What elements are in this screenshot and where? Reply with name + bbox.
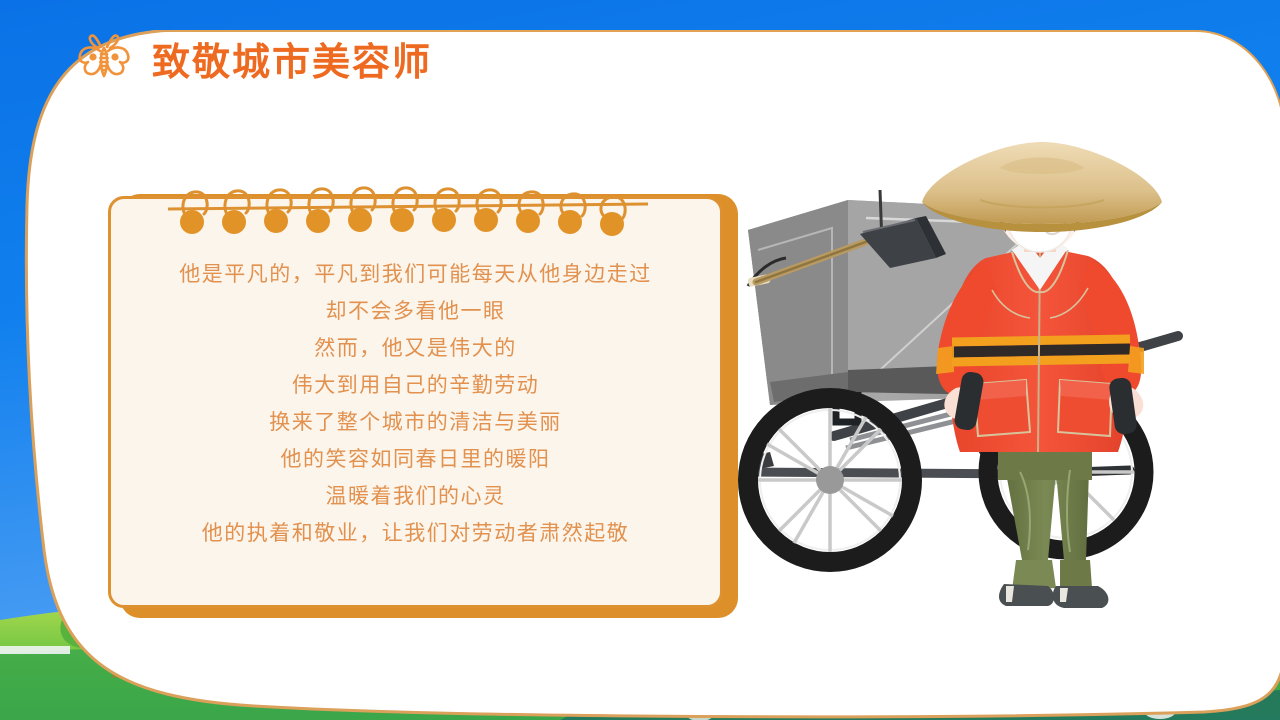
butterfly-icon bbox=[74, 28, 134, 88]
notepad-body: 他是平凡的，平凡到我们可能每天从他身边走过 却不会多看他一眼 然而，他又是伟大的… bbox=[108, 196, 723, 608]
poem-line: 却不会多看他一眼 bbox=[326, 293, 506, 330]
poem-line: 换来了整个城市的清洁与美丽 bbox=[269, 404, 562, 441]
notepad: 他是平凡的，平凡到我们可能每天从他身边走过 却不会多看他一眼 然而，他又是伟大的… bbox=[108, 178, 738, 618]
spiral-binding-icon bbox=[168, 178, 648, 236]
poem-line: 温暖着我们的心灵 bbox=[326, 478, 506, 515]
sanitation-worker bbox=[922, 142, 1162, 608]
cart-wheel-left bbox=[748, 398, 912, 562]
poem-line: 他的笑容如同春日里的暖阳 bbox=[281, 441, 551, 478]
slide-stage: 致敬城市美容师 他是平凡的，平凡到我们可能每天从他身边走过 却不会多看他一眼 然… bbox=[0, 0, 1280, 720]
sanitation-worker-with-cart-illustration bbox=[730, 140, 1250, 640]
poem-line: 他是平凡的，平凡到我们可能每天从他身边走过 bbox=[179, 256, 652, 293]
poem-text: 他是平凡的，平凡到我们可能每天从他身边走过 却不会多看他一眼 然而，他又是伟大的… bbox=[111, 199, 720, 605]
poem-line: 伟大到用自己的辛勤劳动 bbox=[292, 367, 540, 404]
poem-line: 然而，他又是伟大的 bbox=[314, 330, 517, 367]
poem-line: 他的执着和敬业，让我们对劳动者肃然起敬 bbox=[202, 515, 630, 552]
header: 致敬城市美容师 bbox=[74, 28, 432, 88]
page-title: 致敬城市美容师 bbox=[152, 31, 432, 86]
straw-conical-hat bbox=[922, 142, 1162, 232]
